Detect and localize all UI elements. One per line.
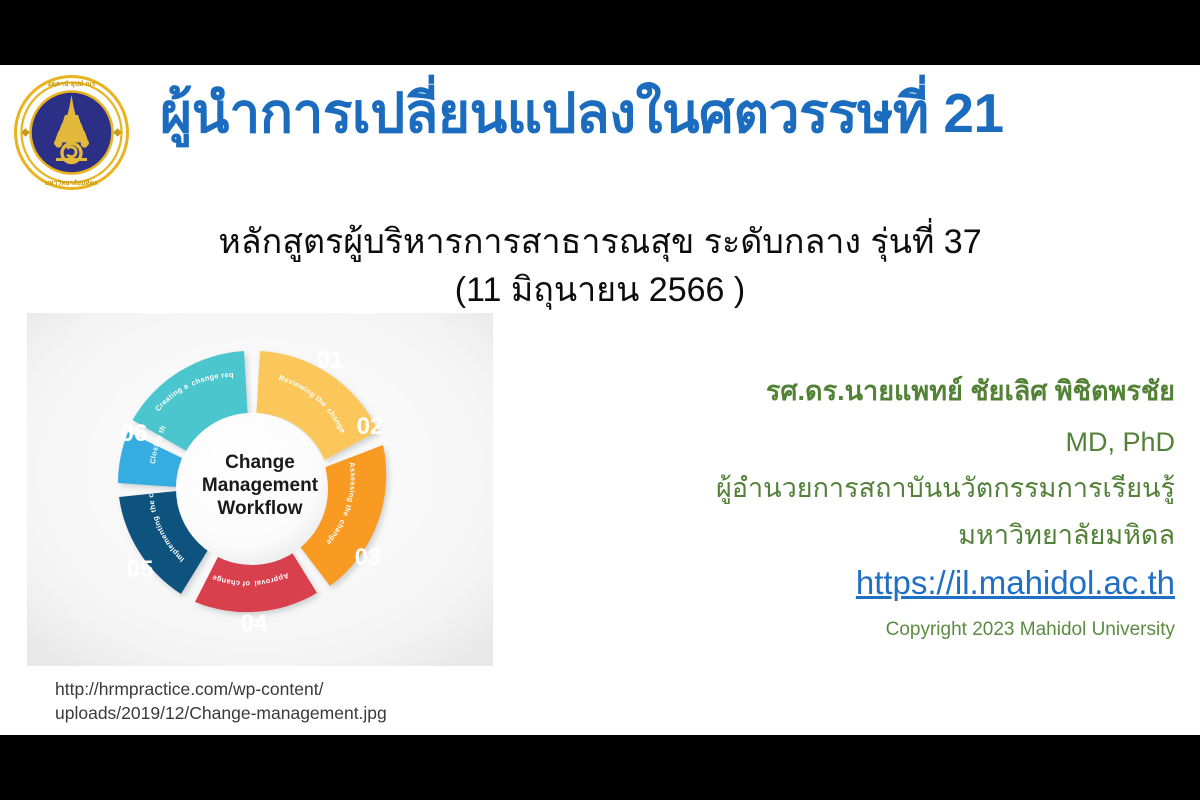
caption-line-1: http://hrmpractice.com/wp-content/ [55, 678, 485, 702]
segment-03-number: 03 [355, 544, 382, 571]
mahidol-university-logo-icon: อตฺตานํ อุปมํ กเร มหาวิทยาลัยมหิดล [13, 74, 130, 191]
segment-01-number: 01 [317, 347, 344, 374]
speaker-name: รศ.ดร.นายแพทย์ ชัยเลิศ พิชิตพรชัย [610, 375, 1175, 409]
change-management-workflow-diagram: Creating achange request Reviewing thech… [27, 313, 493, 666]
subtitle-course-line: หลักสูตรผู้บริหารการสาธารณสุข ระดับกลาง … [140, 220, 1060, 266]
diagram-source-caption: http://hrmpractice.com/wp-content/ uploa… [55, 678, 485, 725]
segment-06-number: 06 [121, 420, 148, 447]
donut-center-hole [176, 413, 328, 565]
subtitle-date-line: (11 มิถุนายน 2566 ) [140, 268, 1060, 314]
svg-text:อตฺตานํ อุปมํ กเร: อตฺตานํ อุปมํ กเร [48, 80, 96, 88]
speaker-degree: MD, PhD [610, 426, 1175, 458]
svg-text:มหาวิทยาลัยมหิดล: มหาวิทยาลัยมหิดล [45, 179, 98, 187]
letterbox-top-bar [0, 0, 1200, 65]
copyright-notice: Copyright 2023 Mahidol University [610, 619, 1175, 641]
speaker-info-panel: รศ.ดร.นายแพทย์ ชัยเลิศ พิชิตพรชัย MD, Ph… [610, 375, 1175, 641]
speaker-position: ผู้อำนวยการสถาบันนวัตกรรมการเรียนรู้ [610, 472, 1175, 504]
segment-05-number: 05 [127, 556, 154, 583]
slide-canvas: อตฺตานํ อุปมํ กเร มหาวิทยาลัยมหิดล ผู้น [0, 65, 1200, 735]
caption-line-2: uploads/2019/12/Change-management.jpg [55, 702, 485, 726]
segment-04-number: 04 [241, 610, 268, 637]
institute-website-link[interactable]: https://il.mahidol.ac.th [856, 563, 1175, 603]
letterbox-bottom-bar [0, 735, 1200, 800]
slide-subtitle-block: หลักสูตรผู้บริหารการสาธารณสุข ระดับกลาง … [140, 220, 1060, 314]
speaker-university: มหาวิทยาลัยมหิดล [610, 519, 1175, 551]
slide-main-title: ผู้นำการเปลี่ยนแปลงในศตวรรษที่ 21 [160, 83, 1060, 144]
segment-02-number: 02 [357, 413, 384, 440]
donut-chart-svg: Creating achange request Reviewing thech… [27, 313, 493, 666]
